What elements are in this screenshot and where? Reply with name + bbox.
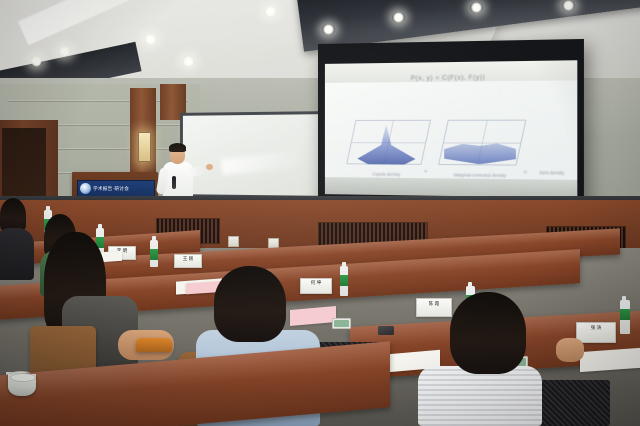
plot-caption-1: Copula density — [343, 171, 431, 177]
slide-operator-plus: + — [424, 169, 427, 175]
device-dark-1[interactable] — [378, 326, 394, 335]
water-bottle-6[interactable] — [620, 300, 630, 334]
a4-hair — [214, 266, 286, 342]
name-card-4-text: 陈 霞 — [417, 301, 451, 308]
wall-outlet-1 — [228, 236, 239, 247]
downlight-5 — [264, 6, 277, 17]
chair-arm-left — [136, 338, 172, 352]
downlight-6 — [322, 24, 335, 35]
smartphone-table-1[interactable] — [332, 318, 351, 329]
plot-caption-2: Marginal-corrected density — [435, 172, 526, 178]
downlight-8 — [470, 2, 483, 13]
name-card-2-text: 王 刚 — [175, 256, 201, 263]
university-emblem-icon — [80, 183, 91, 194]
whiteboard-glare — [221, 151, 302, 175]
name-card-4: 陈 霞 — [416, 298, 452, 317]
projection-screen-surface: P(x, y) = C(F(x), F(y)) Copula density +… — [325, 60, 577, 198]
slide-trailing-caption: Joint density — [539, 170, 564, 176]
water-bottle-4[interactable] — [340, 266, 348, 296]
bottle-label-6 — [620, 309, 630, 320]
name-card-5-text: 张 涛 — [577, 325, 615, 332]
name-card-3: 何 坤 — [300, 278, 332, 294]
a5-hand — [556, 338, 584, 362]
wall-sconce-light — [138, 132, 151, 162]
bottle-label-4 — [340, 275, 348, 286]
wall-groove-3 — [56, 148, 186, 150]
chair-mesh-right — [538, 380, 610, 426]
projection-screen: P(x, y) = C(F(x), F(y)) Copula density +… — [318, 39, 584, 217]
name-card-5: 张 涛 — [576, 322, 616, 343]
downlight-7 — [392, 12, 405, 23]
a5-torso — [418, 366, 542, 426]
paper-sheet-4 — [580, 348, 640, 372]
slide-plot-marginal-density: Marginal-corrected density — [435, 115, 526, 176]
podium-banner-text: 学术报告·研讨会 — [93, 186, 129, 192]
downlight-4 — [182, 56, 195, 67]
whiteboard — [180, 111, 325, 199]
bottle-label-3 — [150, 249, 158, 260]
slide-operator-equals: = — [524, 170, 527, 176]
presenter-right-hand — [206, 164, 213, 170]
a5-hair — [450, 292, 526, 374]
a1-torso — [0, 228, 34, 280]
downlight-9 — [562, 0, 575, 11]
handheld-microphone-icon — [172, 176, 176, 189]
podium-banner: 学术报告·研讨会 — [77, 180, 155, 197]
downlight-2 — [58, 46, 71, 57]
screen-bottom-strip — [325, 177, 577, 198]
smartphone-screen-1 — [334, 320, 349, 327]
name-card-2: 王 刚 — [174, 254, 202, 268]
water-bottle-3[interactable] — [150, 240, 158, 267]
downlight-1 — [30, 56, 43, 67]
a1-hair — [0, 198, 26, 232]
slide-plot-copula-density: Copula density — [343, 116, 431, 175]
conference-room-photo: P(x, y) = C(F(x), F(y)) Copula density +… — [0, 0, 640, 426]
tea-cup-foreground[interactable] — [8, 374, 36, 396]
downlight-3 — [144, 34, 157, 45]
presenter-hair — [169, 143, 186, 152]
name-card-3-text: 何 坤 — [301, 280, 331, 287]
